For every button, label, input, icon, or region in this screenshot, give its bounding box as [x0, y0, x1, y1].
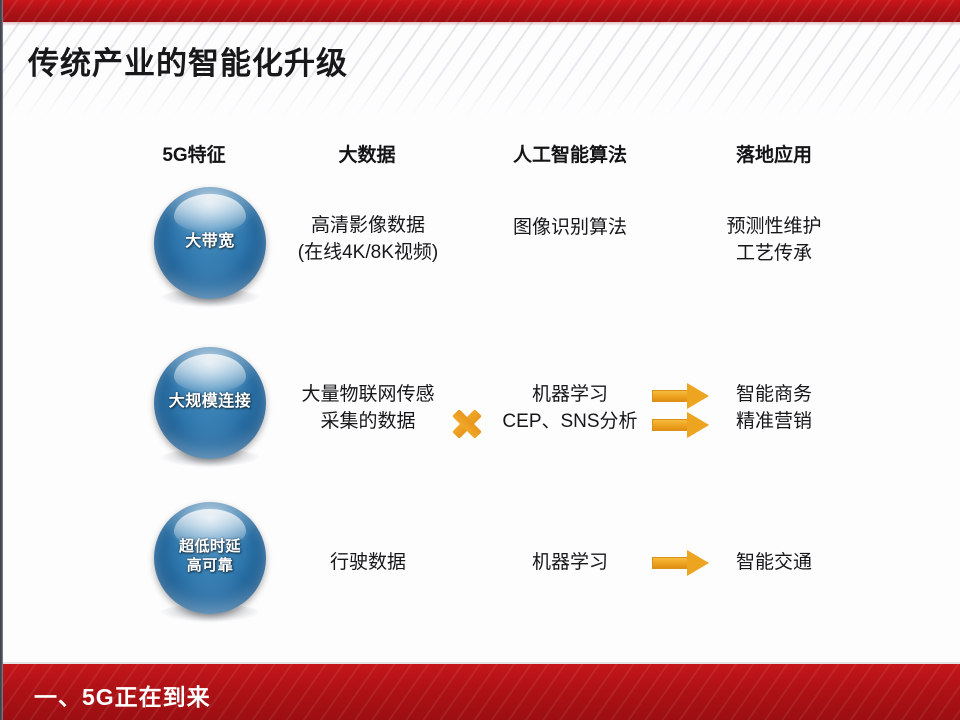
sphere-label: 大带宽 — [150, 185, 270, 299]
feature-sphere: 大带宽 — [150, 185, 270, 309]
top-accent-bar — [0, 0, 960, 22]
arrow-head — [687, 550, 709, 576]
sphere-label-line1: 大带宽 — [185, 232, 235, 252]
slide-left-border — [0, 0, 3, 720]
top-accent-bar-shadow — [0, 22, 960, 26]
sphere-label-line1: 大规模连接 — [169, 392, 252, 412]
column-header-row: 5G特征 大数据 人工智能算法 落地应用 — [0, 140, 960, 172]
arrow-right-icon — [652, 550, 710, 576]
arrow-shaft — [652, 557, 688, 569]
footer-bar: 一、5G正在到来 — [0, 664, 960, 720]
arrow-shaft — [652, 390, 688, 402]
page-title: 传统产业的智能化升级 — [28, 38, 348, 83]
arrow-right-icon — [652, 383, 710, 409]
arrow-right-icon — [652, 412, 710, 438]
feature-sphere: 超低时延 高可靠 — [150, 500, 270, 624]
matrix-row: 超低时延 高可靠 — [0, 500, 960, 630]
matrix-row: 大规模连接 — [0, 345, 960, 475]
sphere-label-line1: 超低时延 — [179, 538, 241, 557]
sphere-label: 大规模连接 — [150, 345, 270, 459]
arrow-head — [687, 412, 709, 438]
arrow-shaft — [652, 419, 688, 431]
sphere-label: 超低时延 高可靠 — [150, 500, 270, 614]
arrow-head — [687, 383, 709, 409]
footer-section-label: 一、5G正在到来 — [34, 678, 211, 712]
feature-sphere: 大规模连接 — [150, 345, 270, 469]
sphere-label-line2: 高可靠 — [187, 557, 234, 576]
column-header-feature: 5G特征 — [128, 140, 260, 167]
column-header-ai: 人工智能算法 — [470, 140, 670, 167]
column-header-bigdata: 大数据 — [278, 140, 456, 167]
matrix-row: 大带宽 — [0, 185, 960, 315]
slide-canvas: 传统产业的智能化升级 5G特征 大数据 人工智能算法 落地应用 大带宽 高清影像… — [0, 0, 960, 720]
column-header-apps: 落地应用 — [684, 140, 864, 167]
